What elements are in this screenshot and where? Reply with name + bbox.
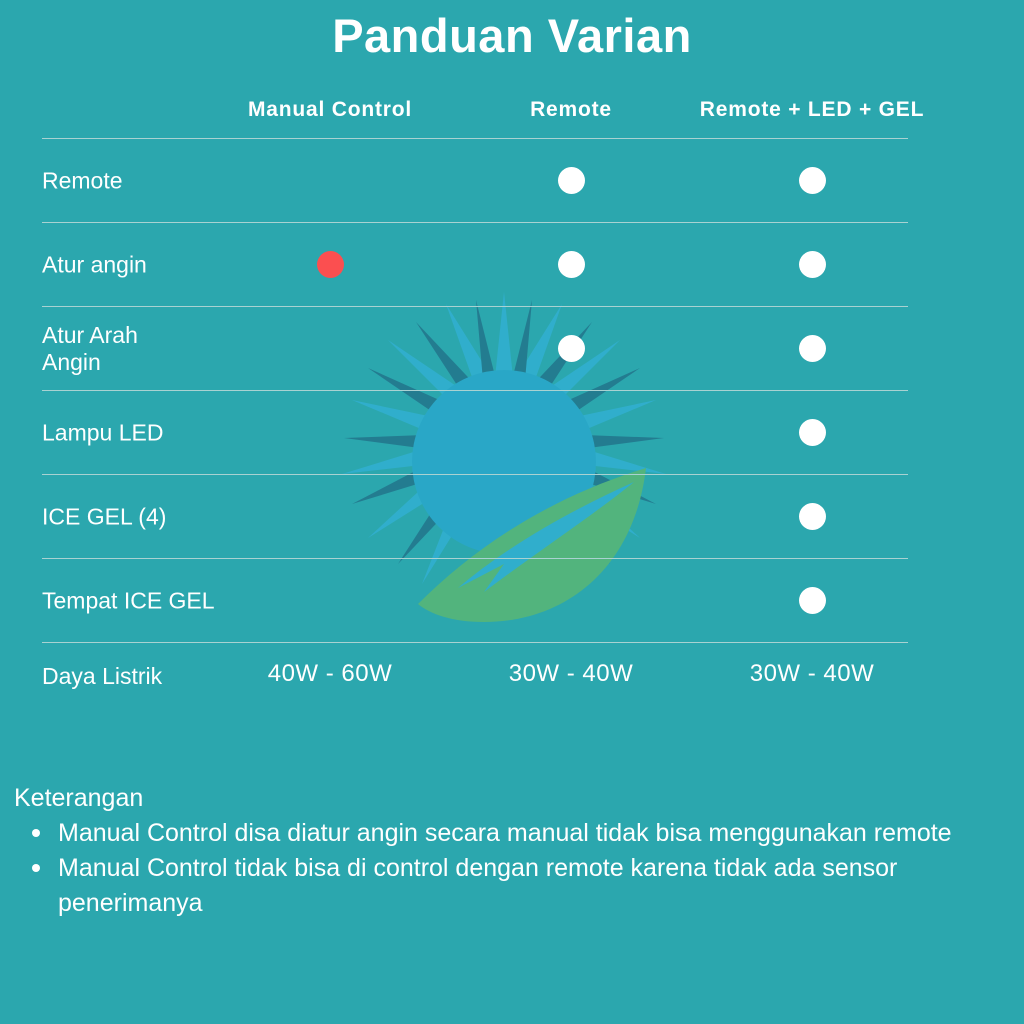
notes-section: Keterangan Manual Control disa diatur an…: [14, 782, 974, 921]
row-label-daya-listrik: Daya Listrik: [42, 663, 162, 690]
table-row: Remote: [42, 139, 908, 222]
bullet-icon: [32, 829, 40, 837]
power-value-manual-control: 40W - 60W: [268, 660, 393, 688]
column-header-manual-control: Manual Control: [248, 98, 412, 122]
note-text: Manual Control tidak bisa di control den…: [58, 854, 897, 917]
page-title: Panduan Varian: [0, 8, 1024, 63]
row-label-atur-arah-angin: Atur Arah Angin: [42, 322, 138, 376]
feature-mark-tempaticegel-remoteledgel: [799, 587, 826, 614]
list-item: Manual Control tidak bisa di control den…: [58, 851, 963, 921]
row-label-remote: Remote: [42, 167, 123, 194]
feature-mark-aturangin-remoteledgel: [799, 251, 826, 278]
feature-mark-icegel-remoteledgel: [799, 503, 826, 530]
table-row: Lampu LED: [42, 391, 908, 474]
notes-title: Keterangan: [14, 782, 974, 814]
power-value-remote-led-gel: 30W - 40W: [750, 660, 875, 688]
notes-list: Manual Control disa diatur angin secara …: [14, 816, 974, 921]
table-row: Atur Arah Angin: [42, 307, 908, 390]
variant-comparison-table: Manual Control Remote Remote + LED + GEL…: [42, 90, 908, 719]
feature-mark-aturarahangin-remote: [558, 335, 585, 362]
bullet-icon: [32, 864, 40, 872]
feature-mark-aturangin-manualcontrol: [317, 251, 344, 278]
power-value-remote: 30W - 40W: [509, 660, 634, 688]
table-header-row: Manual Control Remote Remote + LED + GEL: [42, 90, 908, 138]
row-label-lampu-led: Lampu LED: [42, 419, 163, 446]
note-text: Manual Control disa diatur angin secara …: [58, 819, 952, 847]
column-header-remote: Remote: [530, 98, 612, 122]
table-row: ICE GEL (4): [42, 475, 908, 558]
feature-mark-remote-remote: [558, 167, 585, 194]
row-label-ice-gel: ICE GEL (4): [42, 503, 166, 530]
feature-mark-lampuled-remoteledgel: [799, 419, 826, 446]
table-row-power: Daya Listrik 40W - 60W 30W - 40W 30W - 4…: [42, 643, 908, 719]
feature-mark-aturangin-remote: [558, 251, 585, 278]
table-row: Tempat ICE GEL: [42, 559, 908, 642]
row-label-atur-angin: Atur angin: [42, 251, 147, 278]
table-row: Atur angin: [42, 223, 908, 306]
row-label-tempat-ice-gel: Tempat ICE GEL: [42, 587, 215, 614]
list-item: Manual Control disa diatur angin secara …: [58, 816, 963, 851]
feature-mark-aturarahangin-remoteledgel: [799, 335, 826, 362]
feature-mark-remote-remoteledgel: [799, 167, 826, 194]
column-header-remote-led-gel: Remote + LED + GEL: [700, 98, 924, 122]
infographic-page: Panduan Varian Manual Control Remote Rem…: [0, 0, 1024, 1024]
